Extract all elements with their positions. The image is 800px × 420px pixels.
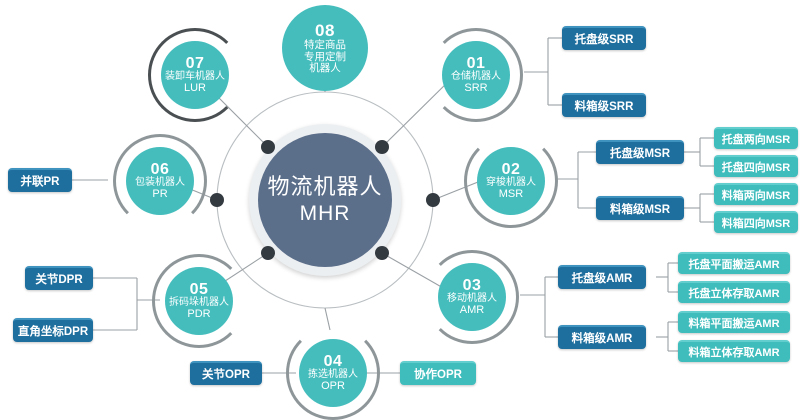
node-02[interactable]: 02 穿梭机器人 MSR xyxy=(477,147,545,215)
node-01-number: 01 xyxy=(467,55,486,72)
node-02-number: 02 xyxy=(502,161,521,178)
box-srr-pallet[interactable]: 托盘级SRR xyxy=(562,26,646,50)
box-amr-tote-3d[interactable]: 料箱立体存取AMR xyxy=(678,340,790,362)
node-05-abbr: PDR xyxy=(187,309,210,321)
node-04-number: 04 xyxy=(324,353,343,370)
box-msr-tote-4way[interactable]: 料箱四向MSR xyxy=(714,211,798,233)
spoke-dot-e xyxy=(426,193,440,207)
box-msr-tote-2way[interactable]: 料箱两向MSR xyxy=(714,183,798,205)
node-07[interactable]: 07 装卸车机器人 LUR xyxy=(161,41,229,109)
node-03[interactable]: 03 移动机器人 AMR xyxy=(438,263,506,331)
node-05[interactable]: 05 拆码垛机器人 PDR xyxy=(165,267,233,335)
box-opr-articulated[interactable]: 关节OPR xyxy=(190,361,262,385)
node-06-number: 06 xyxy=(151,161,170,178)
node-02-abbr: MSR xyxy=(499,189,523,201)
diagram-canvas: 物流机器人 MHR 08 特定商品 专用定制 机器人 07 装卸车机器人 LUR… xyxy=(0,0,800,400)
center-title-cn: 物流机器人 xyxy=(267,174,382,199)
node-05-number: 05 xyxy=(190,281,209,298)
center-node[interactable]: 物流机器人 MHR xyxy=(258,133,392,267)
spoke-dot-ne xyxy=(375,140,389,154)
spoke-dot-nw xyxy=(261,140,275,154)
node-06[interactable]: 06 包装机器人 PR xyxy=(126,147,194,215)
node-04-abbr: OPR xyxy=(321,381,345,393)
node-07-number: 07 xyxy=(186,55,205,72)
node-06-abbr: PR xyxy=(152,189,167,201)
box-amr-pallet[interactable]: 托盘级AMR xyxy=(558,265,646,289)
node-08-line1: 特定商品 xyxy=(304,40,346,51)
box-amr-pallet-3d[interactable]: 托盘立体存取AMR xyxy=(678,281,790,303)
box-pdr-articulated[interactable]: 关节DPR xyxy=(25,266,93,290)
box-amr-tote[interactable]: 料箱级AMR xyxy=(558,325,646,349)
box-pr-parallel[interactable]: 并联PR xyxy=(8,168,72,192)
node-04[interactable]: 04 拣选机器人 OPR xyxy=(299,339,367,407)
node-08[interactable]: 08 特定商品 专用定制 机器人 xyxy=(282,5,368,91)
node-03-abbr: AMR xyxy=(460,305,484,317)
node-03-number: 03 xyxy=(463,277,482,294)
box-pdr-cartesian[interactable]: 直角坐标DPR xyxy=(13,318,93,342)
node-08-number: 08 xyxy=(315,22,335,40)
box-amr-pallet-flat[interactable]: 托盘平面搬运AMR xyxy=(678,252,790,274)
box-msr-tote[interactable]: 料箱级MSR xyxy=(596,196,684,220)
center-title-abbr: MHR xyxy=(300,202,351,226)
node-01[interactable]: 01 仓储机器人 SRR xyxy=(442,41,510,109)
spoke-dot-se xyxy=(375,246,389,260)
box-msr-pallet-4way[interactable]: 托盘四向MSR xyxy=(714,155,798,177)
spoke-dot-sw xyxy=(261,246,275,260)
box-amr-tote-flat[interactable]: 料箱平面搬运AMR xyxy=(678,311,790,333)
box-msr-pallet-2way[interactable]: 托盘两向MSR xyxy=(714,127,798,149)
node-08-line3: 机器人 xyxy=(309,63,341,74)
spoke-dot-w xyxy=(210,193,224,207)
node-07-abbr: LUR xyxy=(184,83,206,95)
box-opr-collaborative[interactable]: 协作OPR xyxy=(400,361,476,385)
node-01-abbr: SRR xyxy=(464,83,487,95)
box-msr-pallet[interactable]: 托盘级MSR xyxy=(596,140,684,164)
box-srr-tote[interactable]: 料箱级SRR xyxy=(562,93,646,117)
